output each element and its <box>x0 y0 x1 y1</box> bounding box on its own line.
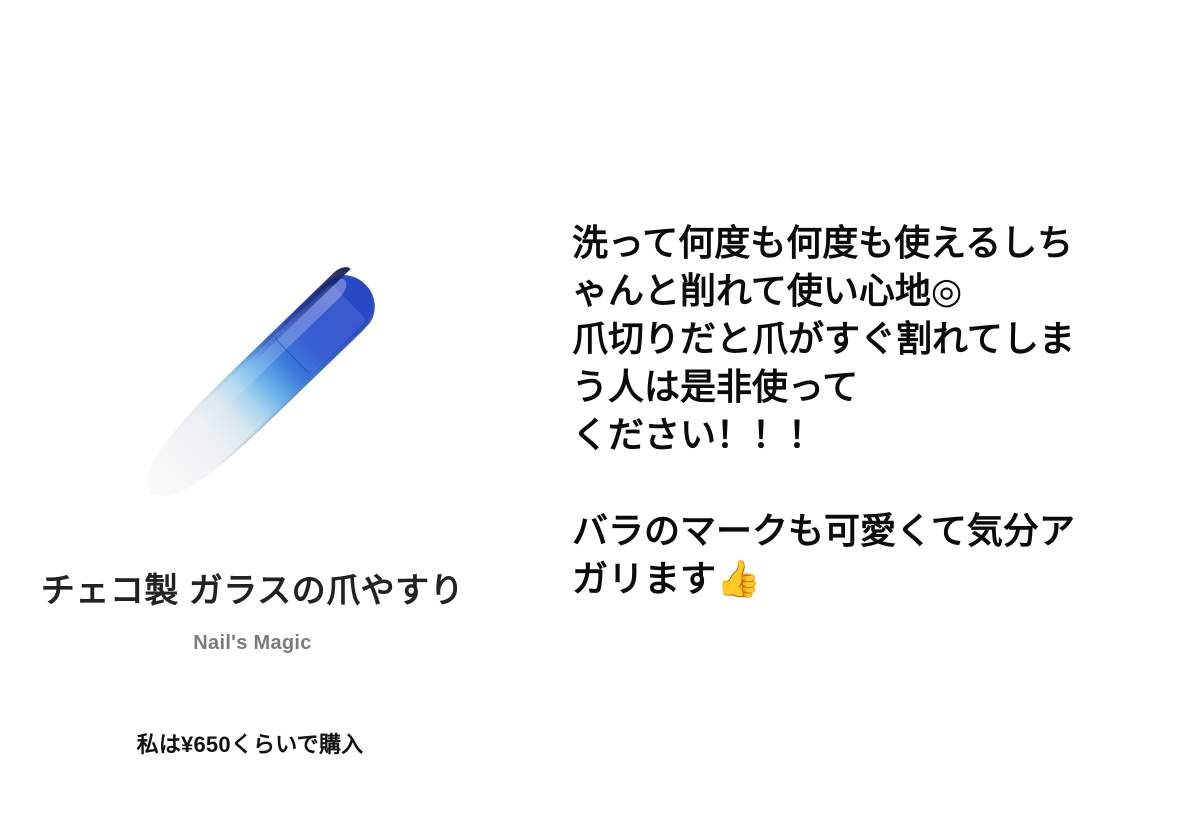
page-root: チェコ製 ガラスの爪やすり Nail's Magic 私は¥650くらいで購入 … <box>0 0 1185 839</box>
product-card: チェコ製 ガラスの爪やすり Nail's Magic 私は¥650くらいで購入 <box>0 0 520 839</box>
nail-file-shape <box>129 263 388 516</box>
product-brand: Nail's Magic <box>0 632 505 655</box>
review-text-block: 洗って何度も何度も使えるしちゃんと削れて使い心地◎ 爪切りだと爪がすぐ割れてしま… <box>572 219 1084 603</box>
review-paragraph-2: バラのマークも可愛くて気分アガリます👍 <box>572 507 1084 603</box>
glass-nail-file-illustration <box>70 230 440 550</box>
product-image <box>70 230 440 550</box>
nail-file-body <box>129 263 388 516</box>
product-price-note: 私は¥650くらいで購入 <box>0 727 500 759</box>
product-title: チェコ製 ガラスの爪やすり <box>0 563 505 612</box>
review-paragraph-1: 洗って何度も何度も使えるしちゃんと削れて使い心地◎ 爪切りだと爪がすぐ割れてしま… <box>572 219 1084 459</box>
